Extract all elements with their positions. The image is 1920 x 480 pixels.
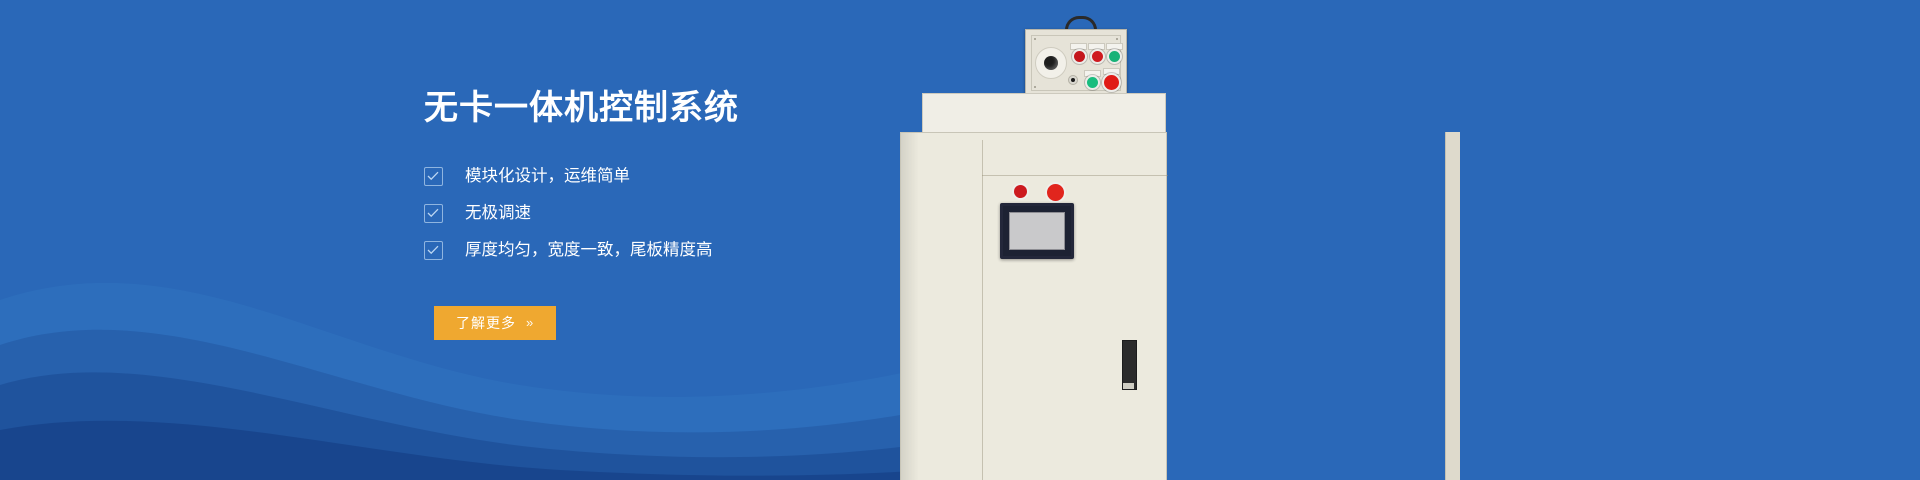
page-title: 无卡一体机控制系统 bbox=[424, 88, 944, 129]
lamp-red-2[interactable] bbox=[1090, 49, 1105, 64]
cabinet-vent-lip bbox=[1123, 383, 1134, 389]
check-icon bbox=[424, 167, 443, 186]
feature-label: 无极调速 bbox=[465, 205, 531, 222]
learn-more-label: 了解更多 bbox=[456, 313, 516, 333]
lamp-green-1[interactable] bbox=[1107, 49, 1122, 64]
cabinet-body bbox=[900, 132, 1167, 480]
lamp-green-2[interactable] bbox=[1085, 75, 1100, 90]
hero-copy: 无卡一体机控制系统 模块化设计，运维简单 无极调速 bbox=[424, 88, 944, 340]
cabinet-top bbox=[922, 93, 1166, 134]
emergency-stop-button[interactable] bbox=[1102, 73, 1121, 92]
list-item: 无极调速 bbox=[424, 204, 944, 223]
hero-banner: 无卡一体机控制系统 模块化设计，运维简单 无极调速 bbox=[0, 0, 1920, 480]
hmi-screen-surface[interactable] bbox=[1009, 212, 1065, 250]
cabinet-door-seam bbox=[982, 175, 1168, 176]
cabinet-lamp-red-2[interactable] bbox=[1045, 182, 1066, 203]
check-icon bbox=[424, 204, 443, 223]
cabinet-lamp-red-1[interactable] bbox=[1012, 183, 1029, 200]
feature-label: 厚度均匀，宽度一致，尾板精度高 bbox=[465, 242, 713, 259]
screw-icon bbox=[1034, 86, 1036, 88]
product-image bbox=[900, 0, 1460, 480]
feature-list: 模块化设计，运维简单 无极调速 厚度均匀，宽度一致，尾板精度高 bbox=[424, 167, 944, 260]
control-box bbox=[1025, 29, 1127, 97]
learn-more-button[interactable]: 了解更多 » bbox=[434, 306, 556, 340]
list-item: 模块化设计，运维简单 bbox=[424, 167, 944, 186]
screw-icon bbox=[1034, 38, 1036, 40]
check-icon bbox=[424, 241, 443, 260]
list-item: 厚度均匀，宽度一致，尾板精度高 bbox=[424, 241, 944, 260]
cabinet-right-edge bbox=[1445, 132, 1460, 480]
chevron-right-icon: » bbox=[526, 315, 534, 330]
feature-label: 模块化设计，运维简单 bbox=[465, 168, 630, 185]
lamp-red-1[interactable] bbox=[1072, 49, 1087, 64]
cabinet-door-seam bbox=[982, 140, 983, 480]
hmi-touchscreen[interactable] bbox=[1000, 203, 1074, 259]
mini-knob[interactable] bbox=[1068, 75, 1078, 85]
screw-icon bbox=[1116, 38, 1118, 40]
rotary-selector-knob[interactable] bbox=[1035, 47, 1067, 79]
